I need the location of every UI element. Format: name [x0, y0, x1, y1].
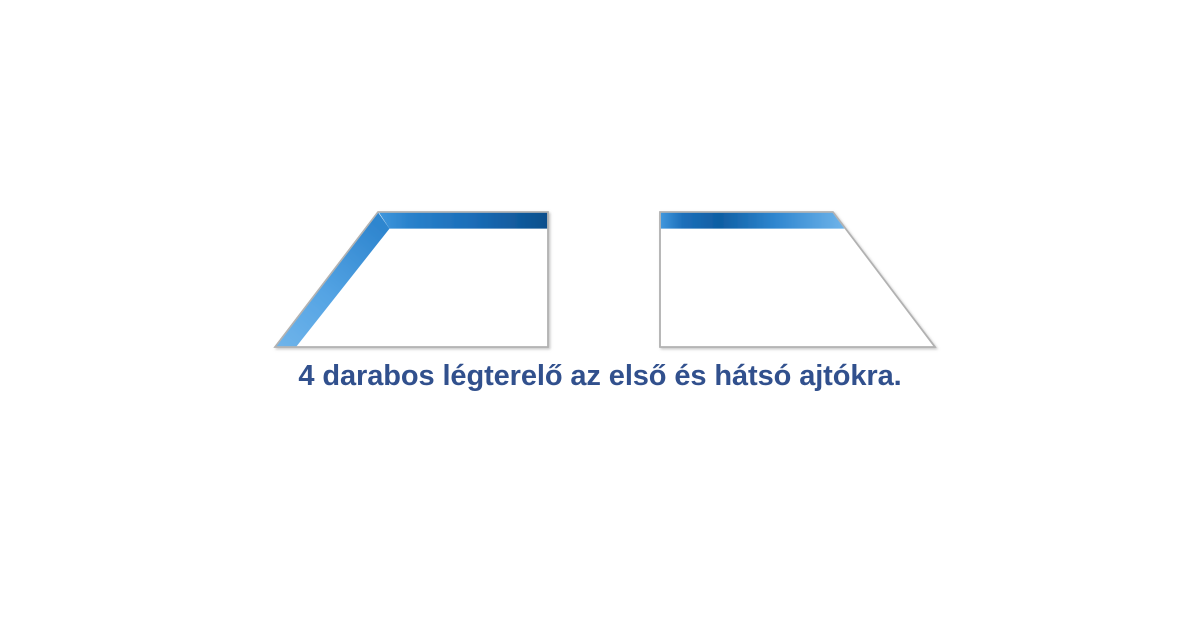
front-door-deflector-top-band [379, 213, 547, 229]
diagram-figure [0, 0, 1200, 630]
page-root: 4 darabos légterelő az első és hátsó ajt… [0, 0, 1200, 630]
diagram-caption: 4 darabos légterelő az első és hátsó ajt… [0, 360, 1200, 393]
front-door-deflector-outline [275, 212, 548, 347]
front-door-deflector-shape [275, 212, 548, 347]
rear-door-deflector-top-band [661, 213, 845, 229]
rear-door-deflector-shape [660, 212, 935, 347]
deflector-diagram-svg [0, 0, 1200, 630]
rear-door-deflector-outline [660, 212, 935, 347]
